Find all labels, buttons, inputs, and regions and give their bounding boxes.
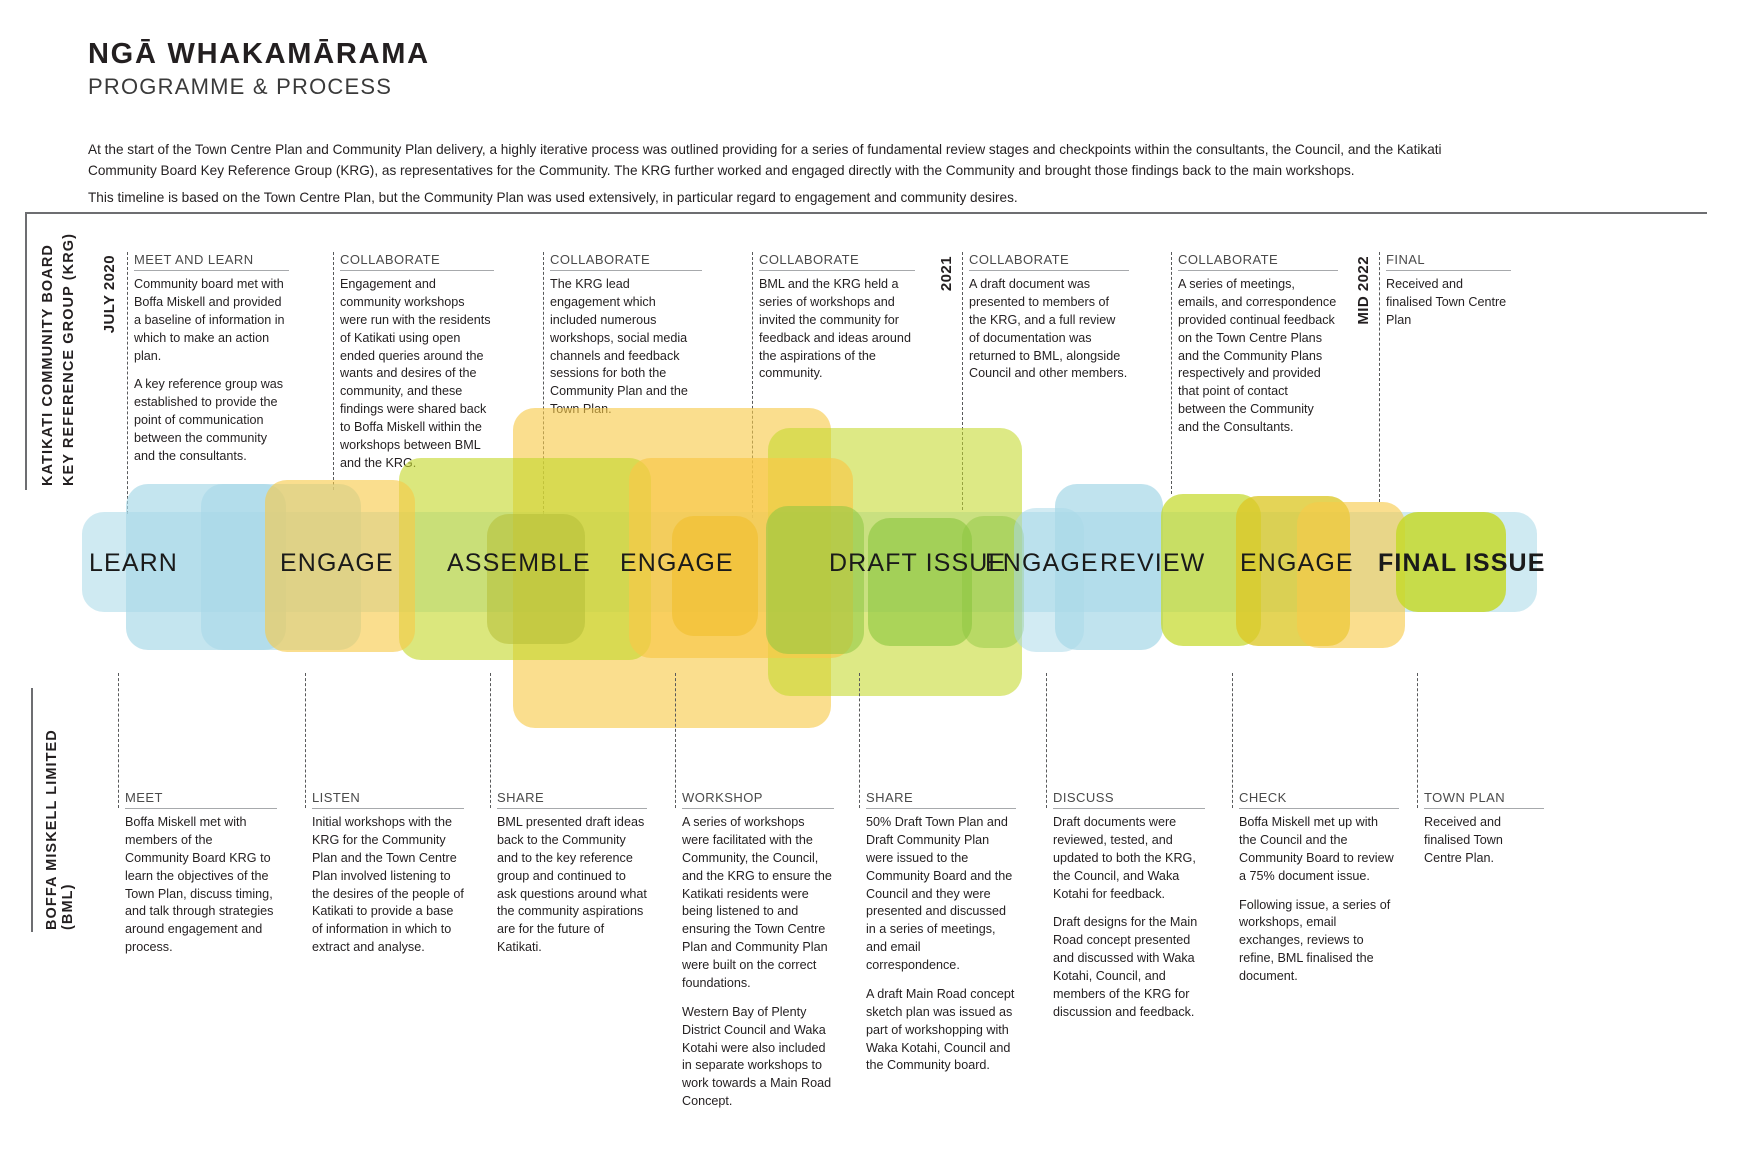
krg-milestone-card: COLLABORATE BML and the KRG held a serie… <box>759 252 915 383</box>
bml-card-body: Boffa Miskell met with members of the Co… <box>125 814 277 957</box>
intro-paragraph-1: At the start of the Town Centre Plan and… <box>88 140 1493 181</box>
krg-card-body: BML and the KRG held a series of worksho… <box>759 276 915 383</box>
bml-card-body: Draft documents were reviewed, tested, a… <box>1053 814 1205 1022</box>
bml-milestone-card: MEET Boffa Miskell met with members of t… <box>125 790 277 957</box>
intro-paragraph-2: This timeline is based on the Town Centr… <box>88 188 1493 209</box>
bml-card-heading: LISTEN <box>312 790 464 809</box>
bml-card-paragraph: Boffa Miskell met up with the Council an… <box>1239 814 1399 886</box>
bml-card-paragraph: Western Bay of Plenty District Council a… <box>682 1004 834 1111</box>
krg-card-paragraph: Received and finalised Town Centre Plan <box>1386 276 1511 330</box>
bml-card-paragraph: Draft documents were reviewed, tested, a… <box>1053 814 1205 903</box>
stage-blob-blue <box>1014 508 1084 652</box>
stage-label-final-issue: FINAL ISSUE <box>1378 549 1546 578</box>
page-subtitle: PROGRAMME & PROCESS <box>88 74 430 100</box>
bml-card-paragraph: A draft Main Road concept sketch plan wa… <box>866 986 1016 1075</box>
bml-card-heading: DISCUSS <box>1053 790 1205 809</box>
krg-card-heading: COLLABORATE <box>759 252 915 271</box>
krg-milestone-card: COLLABORATE A draft document was present… <box>969 252 1129 383</box>
stage-label-engage-2: ENGAGE <box>620 549 734 578</box>
bml-card-heading: MEET <box>125 790 277 809</box>
krg-milestone-card: COLLABORATE The KRG lead engagement whic… <box>550 252 702 419</box>
krg-date-2021: 2021 <box>938 256 955 291</box>
bml-card-body: BML presented draft ideas back to the Co… <box>497 814 647 957</box>
stage-label-learn: LEARN <box>89 549 178 578</box>
krg-card-heading: FINAL <box>1386 252 1511 271</box>
krg-card-heading: COLLABORATE <box>550 252 702 271</box>
bml-card-heading: WORKSHOP <box>682 790 834 809</box>
bml-card-body: Received and finalised Town Centre Plan. <box>1424 814 1544 868</box>
bml-connector-line <box>490 673 491 808</box>
krg-card-heading: COLLABORATE <box>340 252 494 271</box>
page-header: NGĀ WHAKAMĀRAMA PROGRAMME & PROCESS <box>88 38 430 101</box>
krg-milestone-card: FINAL Received and finalised Town Centre… <box>1386 252 1511 330</box>
stage-label-engage-4: ENGAGE <box>1240 549 1354 578</box>
bml-milestone-card: SHARE 50% Draft Town Plan and Draft Comm… <box>866 790 1016 1075</box>
stage-label-engage-3: ENGAGE <box>985 549 1099 578</box>
bml-card-body: A series of workshops were facilitated w… <box>682 814 834 1111</box>
krg-card-heading: COLLABORATE <box>969 252 1129 271</box>
bml-card-paragraph: BML presented draft ideas back to the Co… <box>497 814 647 957</box>
bml-card-heading: CHECK <box>1239 790 1399 809</box>
bml-card-body: Boffa Miskell met up with the Council an… <box>1239 814 1399 986</box>
bml-card-paragraph: Initial workshops with the KRG for the C… <box>312 814 464 957</box>
bml-milestone-card: SHARE BML presented draft ideas back to … <box>497 790 647 957</box>
krg-card-heading: COLLABORATE <box>1178 252 1338 271</box>
stage-blob-green <box>766 506 864 654</box>
bml-milestone-card: CHECK Boffa Miskell met up with the Coun… <box>1239 790 1399 986</box>
bml-card-paragraph: Received and finalised Town Centre Plan. <box>1424 814 1544 868</box>
krg-card-heading: MEET AND LEARN <box>134 252 289 271</box>
bml-milestone-card: WORKSHOP A series of workshops were faci… <box>682 790 834 1111</box>
bml-milestone-card: TOWN PLAN Received and finalised Town Ce… <box>1424 790 1544 868</box>
bml-connector-line <box>118 673 119 808</box>
bml-connector-line <box>1046 673 1047 808</box>
process-stage-graphic: LEARN ENGAGE ASSEMBLE ENGAGE DRAFT ISSUE… <box>0 396 1755 736</box>
bml-card-heading: TOWN PLAN <box>1424 790 1544 809</box>
bml-connector-line <box>1417 673 1418 808</box>
page-title: NGĀ WHAKAMĀRAMA <box>88 38 430 70</box>
krg-card-body: A draft document was presented to member… <box>969 276 1129 383</box>
bml-card-paragraph: Following issue, a series of workshops, … <box>1239 897 1399 986</box>
bml-milestone-card: LISTEN Initial workshops with the KRG fo… <box>312 790 464 957</box>
bml-connector-line <box>859 673 860 808</box>
stage-label-assemble: ASSEMBLE <box>447 549 591 578</box>
bml-card-paragraph: Boffa Miskell met with members of the Co… <box>125 814 277 957</box>
krg-card-paragraph: Community board met with Boffa Miskell a… <box>134 276 289 365</box>
bml-connector-line <box>305 673 306 808</box>
bml-card-body: Initial workshops with the KRG for the C… <box>312 814 464 957</box>
bml-connector-line <box>675 673 676 808</box>
krg-card-body: Received and finalised Town Centre Plan <box>1386 276 1511 330</box>
stage-blob-olive <box>487 514 585 644</box>
bml-card-paragraph: A series of workshops were facilitated w… <box>682 814 834 993</box>
bml-card-paragraph: Draft designs for the Main Road concept … <box>1053 914 1205 1021</box>
krg-date-mid-2022: MID 2022 <box>1355 256 1372 325</box>
stage-label-engage-1: ENGAGE <box>280 549 394 578</box>
bml-connector-line <box>1232 673 1233 808</box>
stage-blob-green <box>868 518 972 646</box>
stage-label-draft-issue: DRAFT ISSUE <box>829 549 1006 578</box>
krg-card-paragraph: BML and the KRG held a series of worksho… <box>759 276 915 383</box>
stage-label-review: REVIEW <box>1100 549 1205 578</box>
krg-card-paragraph: A draft document was presented to member… <box>969 276 1129 383</box>
bml-milestone-card: DISCUSS Draft documents were reviewed, t… <box>1053 790 1205 1022</box>
krg-date-july-2020: JULY 2020 <box>101 255 118 333</box>
bml-card-heading: SHARE <box>497 790 647 809</box>
bml-card-body: 50% Draft Town Plan and Draft Community … <box>866 814 1016 1075</box>
bml-card-paragraph: 50% Draft Town Plan and Draft Community … <box>866 814 1016 975</box>
header-divider-rule <box>25 212 1707 214</box>
bml-card-heading: SHARE <box>866 790 1016 809</box>
